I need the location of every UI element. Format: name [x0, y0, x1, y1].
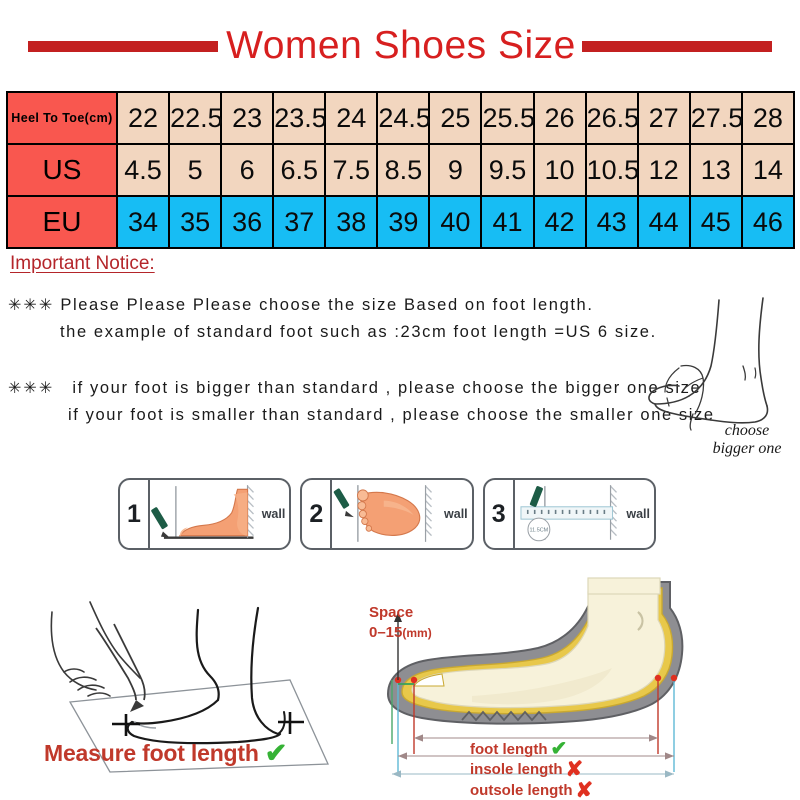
table-row-eu: EU 34 35 36 37 38 39 40 41 42 43 44 45 4… — [7, 196, 794, 248]
notice-block-1: ✳✳✳ Please Please Please choose the size… — [8, 292, 657, 346]
choose-bigger-one-caption: choose bigger one — [692, 422, 800, 458]
notice-line-3: ✳✳✳ if your foot is bigger than standard… — [8, 375, 715, 402]
notice-line-2: the example of standard foot such as :23… — [8, 319, 657, 346]
step-panel-3: 3 — [483, 478, 656, 550]
cell-us-9: 10.5 — [586, 144, 638, 196]
cell-us-1: 5 — [169, 144, 221, 196]
measurement-steps-group: 1 — [118, 478, 656, 550]
cell-eu-5: 39 — [377, 196, 429, 248]
important-notice-heading: Important Notice: — [10, 253, 155, 275]
legend-row-outsole-length: outsole length ✘ — [470, 780, 593, 800]
legend-row-insole-length: insole length ✘ — [470, 759, 593, 780]
asterisk-marker: ✳✳✳ — [8, 380, 54, 397]
cell-eu-4: 38 — [325, 196, 377, 248]
cross-icon: ✘ — [566, 759, 584, 780]
row-label-eu: EU — [7, 196, 117, 248]
cell-eu-11: 45 — [690, 196, 742, 248]
cell-eu-10: 44 — [638, 196, 690, 248]
cell-cm-4: 24 — [325, 92, 377, 144]
cell-cm-1: 22.5 — [169, 92, 221, 144]
cell-cm-10: 27 — [638, 92, 690, 144]
cell-eu-1: 35 — [169, 196, 221, 248]
wall-label-step-1: wall — [262, 507, 286, 521]
notice-line-4: if your foot is smaller than standard , … — [8, 402, 715, 429]
row-label-heel-to-toe: Heel To Toe(cm) — [7, 92, 117, 144]
row-label-us: US — [7, 144, 117, 196]
foot-profile-sketch-icon — [645, 280, 795, 440]
cell-cm-5: 24.5 — [377, 92, 429, 144]
legend-row-foot-length: foot length ✔ — [470, 739, 593, 759]
wall-label-step-2: wall — [444, 507, 468, 521]
notice-text-3: if your foot is bigger than standard , p… — [60, 379, 701, 397]
step-1-illustration: wall — [150, 480, 289, 548]
step-number-1: 1 — [120, 480, 150, 548]
notice-text-1: Please Please Please choose the size Bas… — [60, 296, 593, 314]
cell-eu-8: 42 — [534, 196, 586, 248]
cell-eu-2: 36 — [221, 196, 273, 248]
choose-bigger-line-1: choose — [692, 422, 800, 440]
step-panel-1: 1 — [118, 478, 291, 550]
cell-cm-9: 26.5 — [586, 92, 638, 144]
space-label-line-2: 0–15(mm) — [369, 623, 432, 643]
table-row-us: US 4.5 5 6 6.5 7.5 8.5 9 9.5 10 10.5 12 … — [7, 144, 794, 196]
check-icon: ✔ — [550, 739, 567, 759]
cell-us-11: 13 — [690, 144, 742, 196]
cell-us-4: 7.5 — [325, 144, 377, 196]
check-icon: ✔ — [265, 740, 287, 767]
step-2-illustration: wall — [332, 480, 471, 548]
page-title: Women Shoes Size — [226, 24, 576, 68]
asterisk-marker: ✳✳✳ — [8, 297, 54, 314]
legend-text-foot-length: foot length — [470, 740, 547, 759]
size-conversion-table: Heel To Toe(cm) 22 22.5 23 23.5 24 24.5 … — [6, 91, 795, 249]
cell-cm-11: 27.5 — [690, 92, 742, 144]
title-rule-right — [582, 41, 772, 52]
table-row-heel-to-toe: Heel To Toe(cm) 22 22.5 23 23.5 24 24.5 … — [7, 92, 794, 144]
cell-eu-9: 43 — [586, 196, 638, 248]
cell-cm-7: 25.5 — [481, 92, 533, 144]
cell-us-0: 4.5 — [117, 144, 169, 196]
cell-eu-3: 37 — [273, 196, 325, 248]
cell-cm-2: 23 — [221, 92, 273, 144]
cell-eu-0: 34 — [117, 196, 169, 248]
cell-us-7: 9.5 — [481, 144, 533, 196]
space-label-line-1: Space — [369, 603, 432, 623]
cross-icon: ✘ — [576, 780, 594, 800]
legend-text-insole-length: insole length — [470, 760, 563, 779]
ruler-reading-text: 11.5CM — [529, 527, 548, 533]
cell-cm-0: 22 — [117, 92, 169, 144]
cell-us-3: 6.5 — [273, 144, 325, 196]
space-unit: (mm) — [402, 626, 431, 640]
cell-cm-8: 26 — [534, 92, 586, 144]
size-chart-page: Women Shoes Size Heel To Toe(cm) 22 22.5… — [0, 0, 800, 800]
cell-eu-6: 40 — [429, 196, 481, 248]
length-legend: foot length ✔ insole length ✘ outsole le… — [470, 739, 593, 800]
measure-foot-length-caption: Measure foot length ✔ — [44, 740, 287, 767]
measure-caption-text: Measure foot length — [44, 740, 259, 767]
step-number-2: 2 — [302, 480, 332, 548]
step-3-illustration: 11.5CM wall — [515, 480, 654, 548]
cell-eu-7: 41 — [481, 196, 533, 248]
notice-block-2: ✳✳✳ if your foot is bigger than standard… — [8, 375, 715, 429]
cell-us-5: 8.5 — [377, 144, 429, 196]
step-panel-2: 2 — [300, 478, 473, 550]
step-number-3: 3 — [485, 480, 515, 548]
space-annotation: Space 0–15(mm) — [369, 603, 432, 643]
wall-label-step-3: wall — [626, 507, 650, 521]
cell-us-6: 9 — [429, 144, 481, 196]
title-rule-left — [28, 41, 218, 52]
page-title-bar: Women Shoes Size — [0, 22, 800, 70]
cell-cm-6: 25 — [429, 92, 481, 144]
cell-us-10: 12 — [638, 144, 690, 196]
cell-us-12: 14 — [742, 144, 794, 196]
legend-text-outsole-length: outsole length — [470, 781, 573, 800]
cell-us-8: 10 — [534, 144, 586, 196]
cell-us-2: 6 — [221, 144, 273, 196]
space-value: 0–15 — [369, 624, 402, 641]
choose-bigger-line-2: bigger one — [692, 440, 800, 458]
notice-line-1: ✳✳✳ Please Please Please choose the size… — [8, 292, 657, 319]
cell-cm-12: 28 — [742, 92, 794, 144]
cell-eu-12: 46 — [742, 196, 794, 248]
cell-cm-3: 23.5 — [273, 92, 325, 144]
